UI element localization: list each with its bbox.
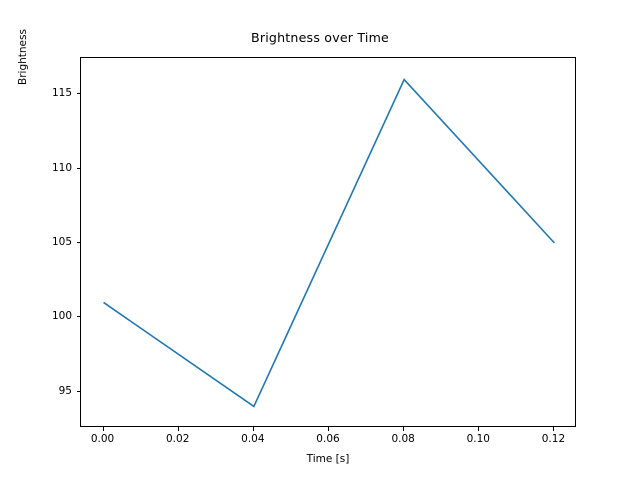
- x-tick-label: 0.08: [391, 433, 414, 445]
- y-axis-label: Brightness: [17, 0, 31, 242]
- y-tick-label: 115: [72, 87, 92, 99]
- x-tick-label: 0.10: [467, 433, 490, 445]
- x-tick-label: 0.02: [166, 433, 189, 445]
- y-tick-label: 110: [72, 162, 92, 174]
- x-tick-label: 0.06: [316, 433, 339, 445]
- x-tick-mark: [328, 427, 329, 431]
- x-tick-label: 0.12: [542, 433, 565, 445]
- x-tick-mark: [253, 427, 254, 431]
- x-tick-mark: [478, 427, 479, 431]
- chart-title: Brightness over Time: [0, 30, 640, 45]
- figure-canvas: Brightness over Time 0.000.020.040.060.0…: [0, 0, 640, 480]
- plot-axes-frame: [80, 57, 576, 427]
- x-tick-mark: [103, 427, 104, 431]
- x-tick-label: 0.04: [241, 433, 264, 445]
- line-series-plot: [81, 58, 577, 428]
- x-axis-label: Time [s]: [80, 453, 576, 465]
- y-tick-label: 105: [72, 236, 92, 248]
- x-tick-mark: [553, 427, 554, 431]
- x-tick-label: 0.00: [91, 433, 114, 445]
- y-tick-label: 100: [72, 310, 92, 322]
- series-line-brightness: [104, 80, 555, 407]
- y-tick-label: 95: [72, 385, 85, 397]
- x-tick-mark: [178, 427, 179, 431]
- x-tick-mark: [403, 427, 404, 431]
